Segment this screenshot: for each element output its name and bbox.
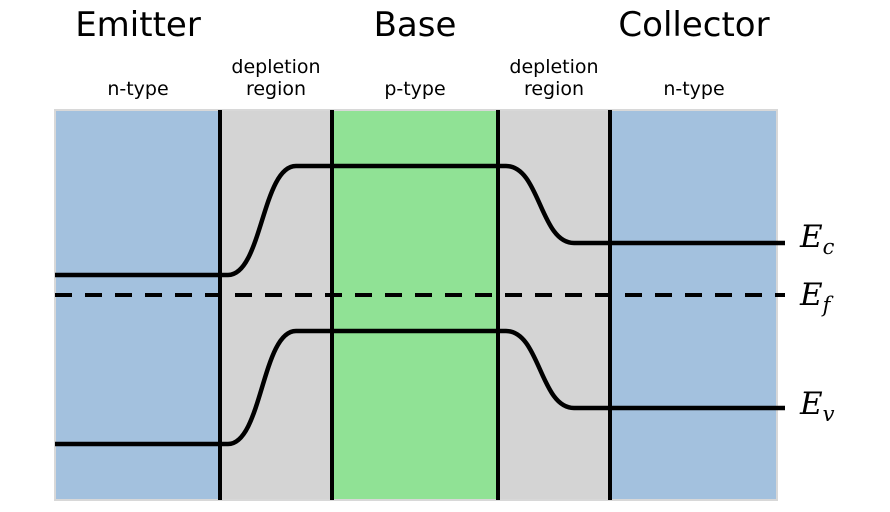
band-diagram-figure: Emitter Base Collector n-type depletion …	[0, 0, 890, 512]
region-subtitle-base: p-type	[384, 79, 445, 101]
energy-label-ec-symbol: E	[800, 219, 823, 255]
band-diagram-canvas	[0, 0, 890, 512]
region-fill-emitter	[55, 110, 220, 500]
energy-label-ec: Ec	[800, 222, 834, 258]
region-subtitle-emitter: n-type	[107, 79, 168, 101]
region-title-emitter: Emitter	[75, 8, 201, 42]
region-subtitle-collector: n-type	[663, 79, 724, 101]
region-title-collector: Collector	[618, 8, 769, 42]
energy-label-ef-subscript: f	[823, 293, 831, 317]
energy-label-ef-symbol: E	[800, 277, 823, 313]
energy-label-ec-subscript: c	[823, 235, 835, 259]
region-subtitle-depletion-right: depletion region	[509, 57, 598, 101]
energy-label-ev: Ev	[800, 389, 835, 425]
region-fill-collector	[610, 110, 777, 500]
region-title-base: Base	[374, 8, 457, 42]
energy-label-ev-subscript: v	[823, 402, 835, 426]
energy-label-ef: Ef	[800, 280, 830, 316]
region-fill-base	[332, 110, 498, 500]
energy-label-ev-symbol: E	[800, 386, 823, 422]
region-subtitle-depletion-left: depletion region	[231, 57, 320, 101]
